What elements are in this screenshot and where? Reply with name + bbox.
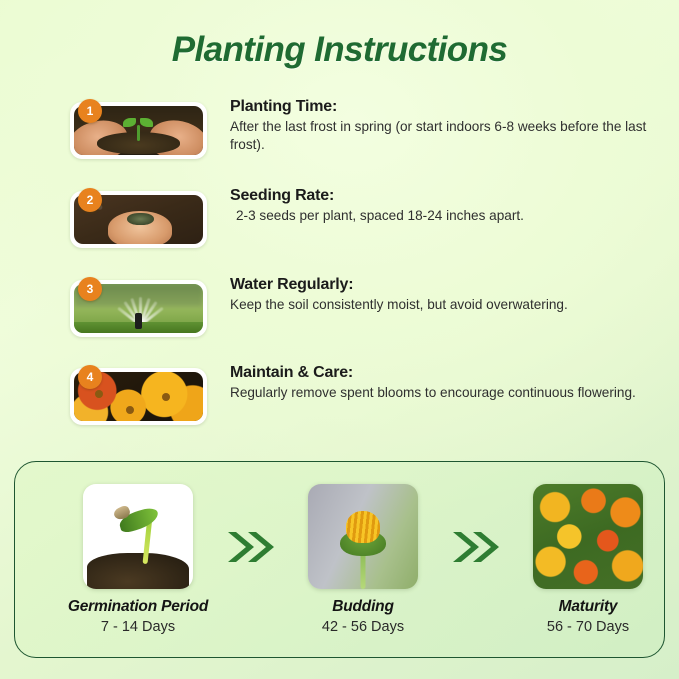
planting-instructions-infographic: Planting Instructions 1 Planti xyxy=(0,0,679,679)
timeline-stage-2-days: 42 - 56 Days xyxy=(278,619,448,635)
step-3-heading: Water Regularly: xyxy=(230,276,660,294)
instruction-step-1: 1 Planting Time: After the last frost in… xyxy=(64,88,664,174)
timeline-stage-3-days: 56 - 70 Days xyxy=(503,619,673,635)
flower-field-photo xyxy=(533,484,643,589)
timeline-stage-maturity: Maturity 56 - 70 Days xyxy=(503,484,673,635)
step-4-body: Regularly remove spent blooms to encoura… xyxy=(230,384,660,402)
step-4-number-badge: 4 xyxy=(78,365,102,389)
step-4-heading: Maintain & Care: xyxy=(230,364,660,382)
step-1-thumbnail-frame: 1 xyxy=(70,102,207,159)
step-4-text: Maintain & Care: Regularly remove spent … xyxy=(230,364,660,402)
instruction-step-2: 2 Seeding Rate: 2-3 seeds per plant, spa… xyxy=(64,177,664,263)
timeline-stage-germination: Germination Period 7 - 14 Days xyxy=(53,484,223,635)
timeline-stage-1-days: 7 - 14 Days xyxy=(53,619,223,635)
growth-timeline-panel: Germination Period 7 - 14 Days Budd xyxy=(14,461,665,658)
double-chevron-right-icon xyxy=(224,524,276,570)
step-1-text: Planting Time: After the last frost in s… xyxy=(230,98,660,154)
page-title: Planting Instructions xyxy=(0,30,679,70)
step-2-body: 2-3 seeds per plant, spaced 18-24 inches… xyxy=(230,207,660,225)
step-1-body: After the last frost in spring (or start… xyxy=(230,118,660,154)
flower-bud-photo xyxy=(308,484,418,589)
step-3-thumbnail-frame: 3 xyxy=(70,280,207,337)
step-3-text: Water Regularly: Keep the soil consisten… xyxy=(230,276,660,314)
timeline-stage-3-label: Maturity xyxy=(503,598,673,616)
step-2-heading: Seeding Rate: xyxy=(230,187,660,205)
step-1-number-badge: 1 xyxy=(78,99,102,123)
step-3-number-badge: 3 xyxy=(78,277,102,301)
step-2-text: Seeding Rate: 2-3 seeds per plant, space… xyxy=(230,187,660,225)
timeline-stage-1-label: Germination Period xyxy=(53,598,223,616)
step-2-number-badge: 2 xyxy=(78,188,102,212)
step-1-heading: Planting Time: xyxy=(230,98,660,116)
instruction-step-3: 3 Water xyxy=(64,266,664,352)
step-3-body: Keep the soil consistently moist, but av… xyxy=(230,296,660,314)
double-chevron-right-icon-2 xyxy=(449,524,501,570)
timeline-stage-budding: Budding 42 - 56 Days xyxy=(278,484,448,635)
step-2-thumbnail-frame: 2 xyxy=(70,191,207,248)
timeline-stage-2-label: Budding xyxy=(278,598,448,616)
instruction-step-4: 4 Maintain & Care: Regularly remove spen… xyxy=(64,354,664,440)
step-4-thumbnail-frame: 4 xyxy=(70,368,207,425)
seedling-sprout-photo xyxy=(83,484,193,589)
